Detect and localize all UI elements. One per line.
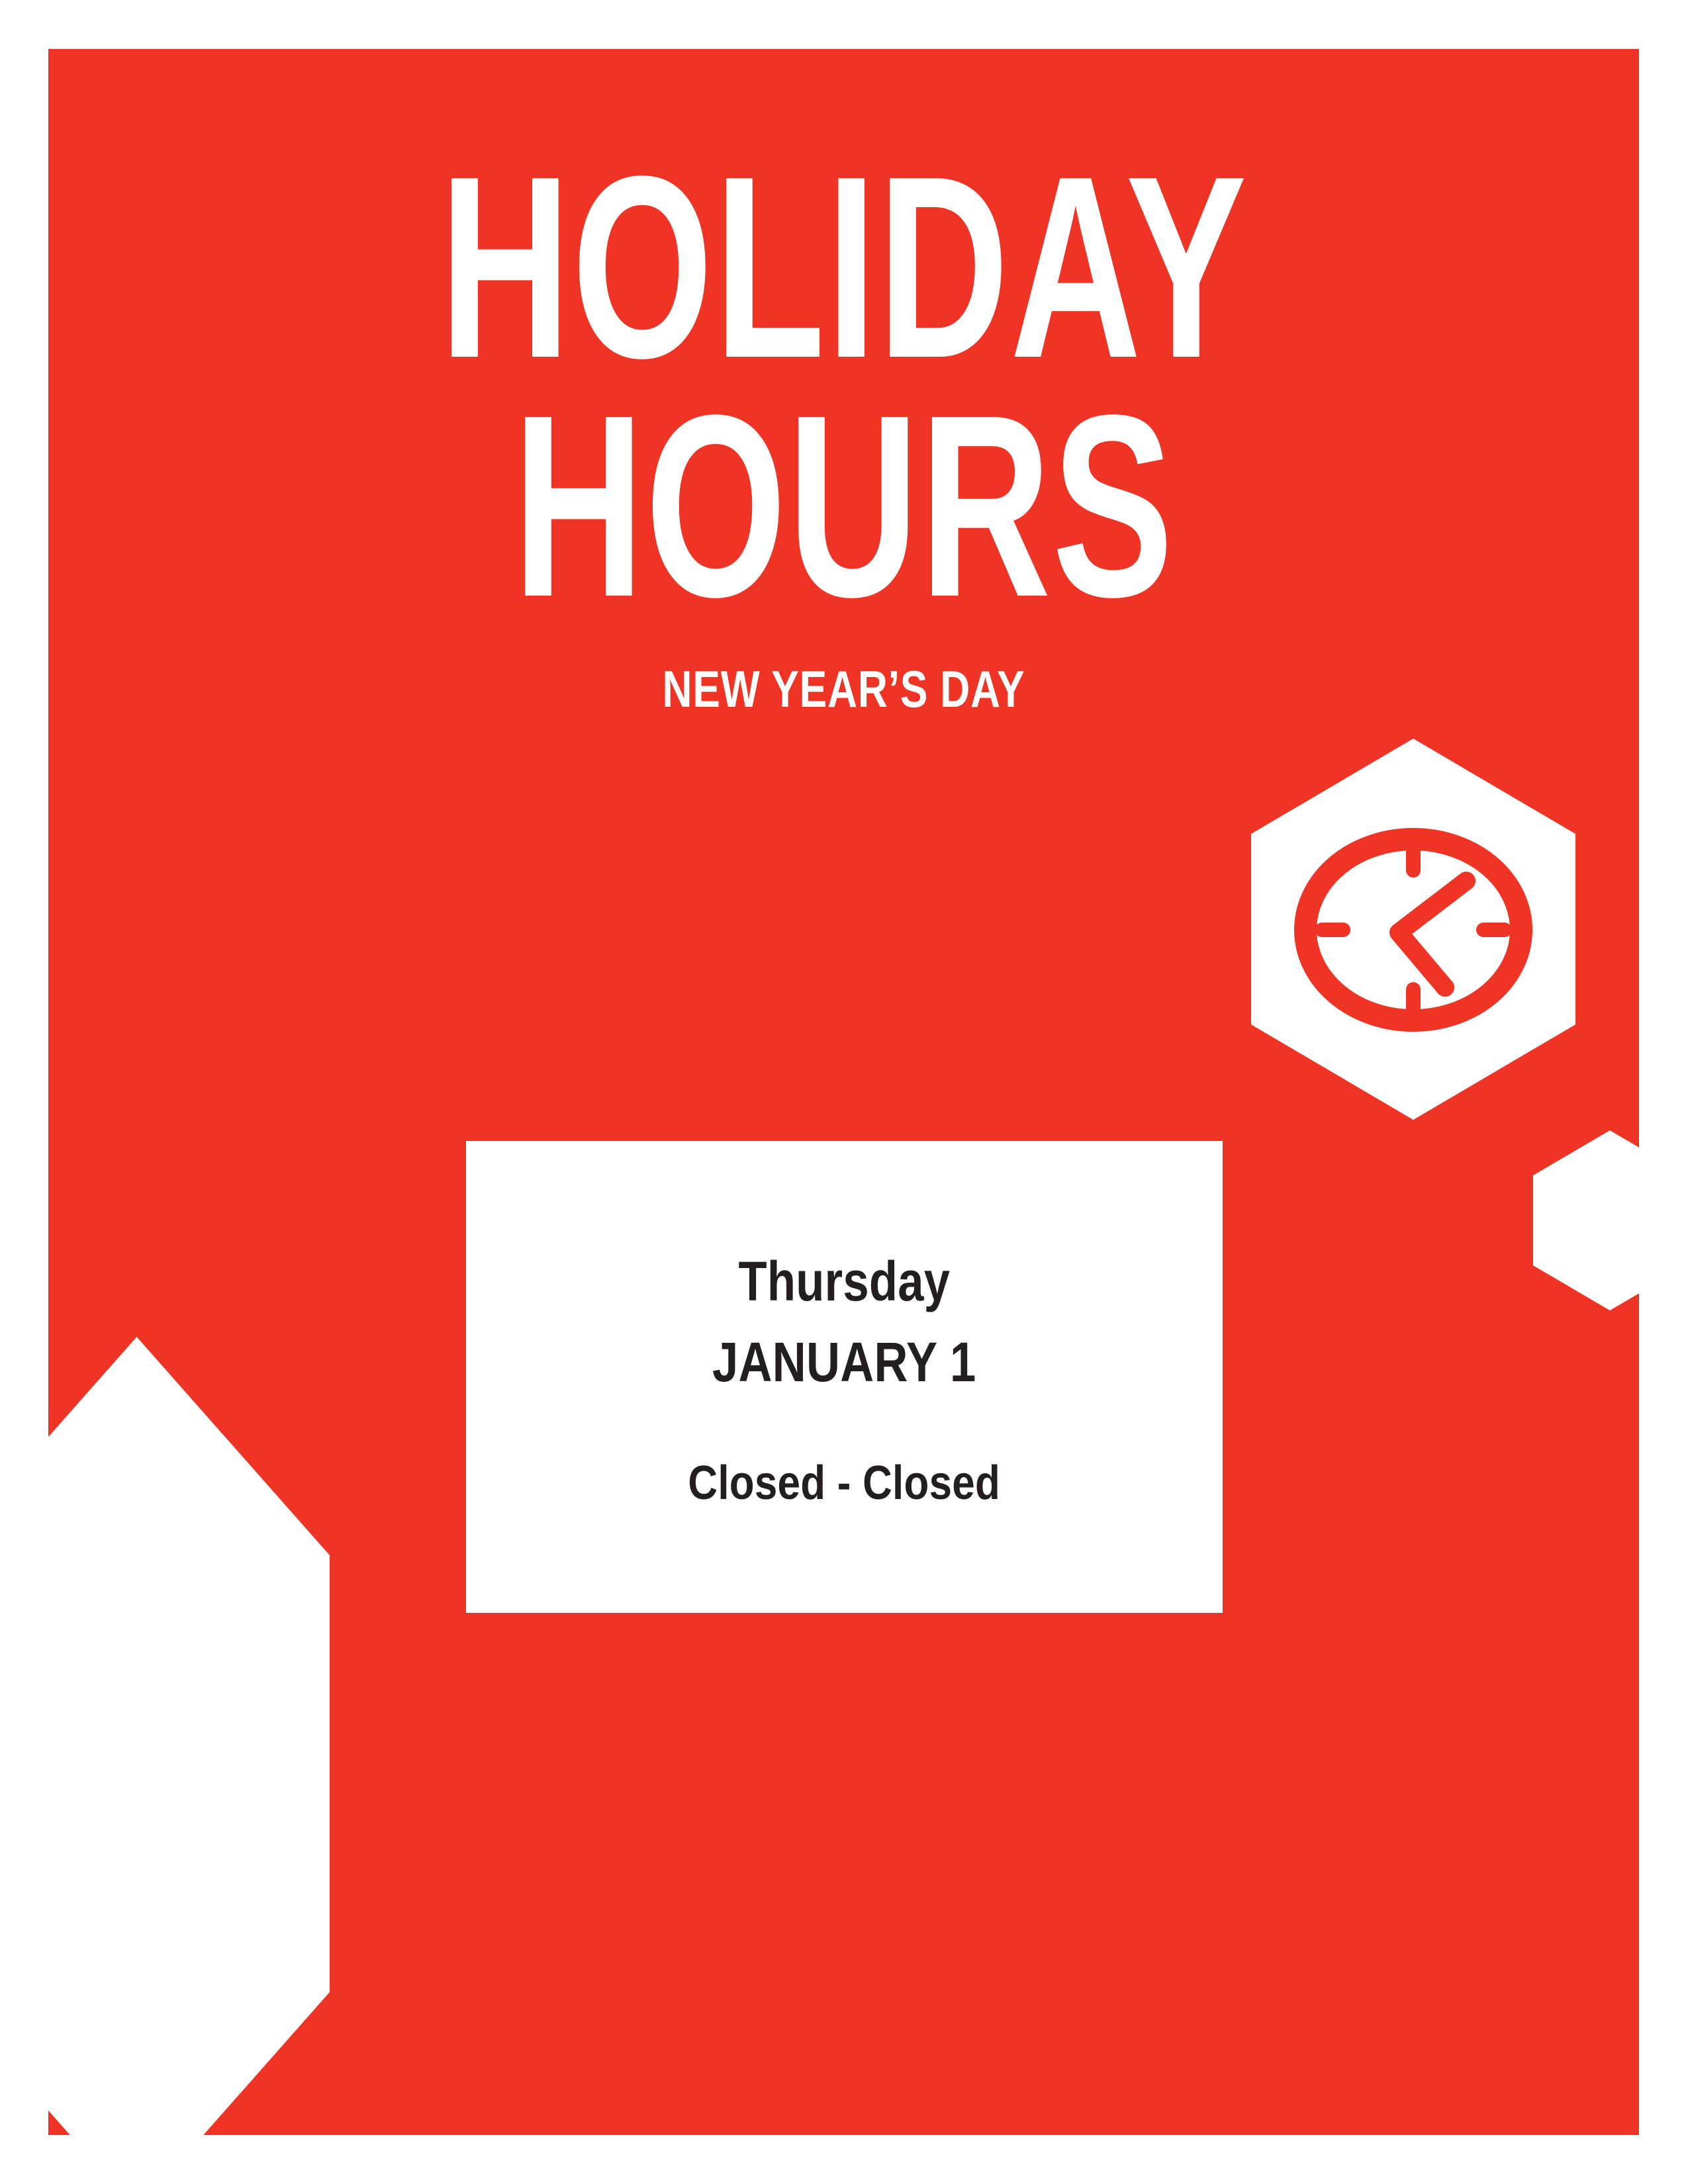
card-weekday: Thursday: [739, 1253, 951, 1309]
hexagon-small-accent: [1533, 1130, 1639, 1310]
headline-line-1: HOLIDAY: [287, 148, 1400, 387]
holiday-name-subtitle: NEW YEAR’S DAY: [207, 663, 1479, 715]
clock-icon: [1293, 827, 1534, 1033]
holiday-hours-poster: HOLIDAY HOURS NEW YEAR’S DAY Thursday JA…: [0, 0, 1688, 2184]
hexagon-large-accent: [48, 1337, 330, 2135]
page-title: HOLIDAY HOURS: [48, 148, 1639, 625]
red-background-panel: HOLIDAY HOURS NEW YEAR’S DAY Thursday JA…: [48, 49, 1639, 2135]
hours-info-card: Thursday JANUARY 1 Closed - Closed: [466, 1141, 1223, 1613]
card-date: JANUARY 1: [712, 1334, 976, 1390]
card-hours: Closed - Closed: [688, 1459, 1001, 1507]
headline-line-2: HOURS: [287, 387, 1400, 626]
